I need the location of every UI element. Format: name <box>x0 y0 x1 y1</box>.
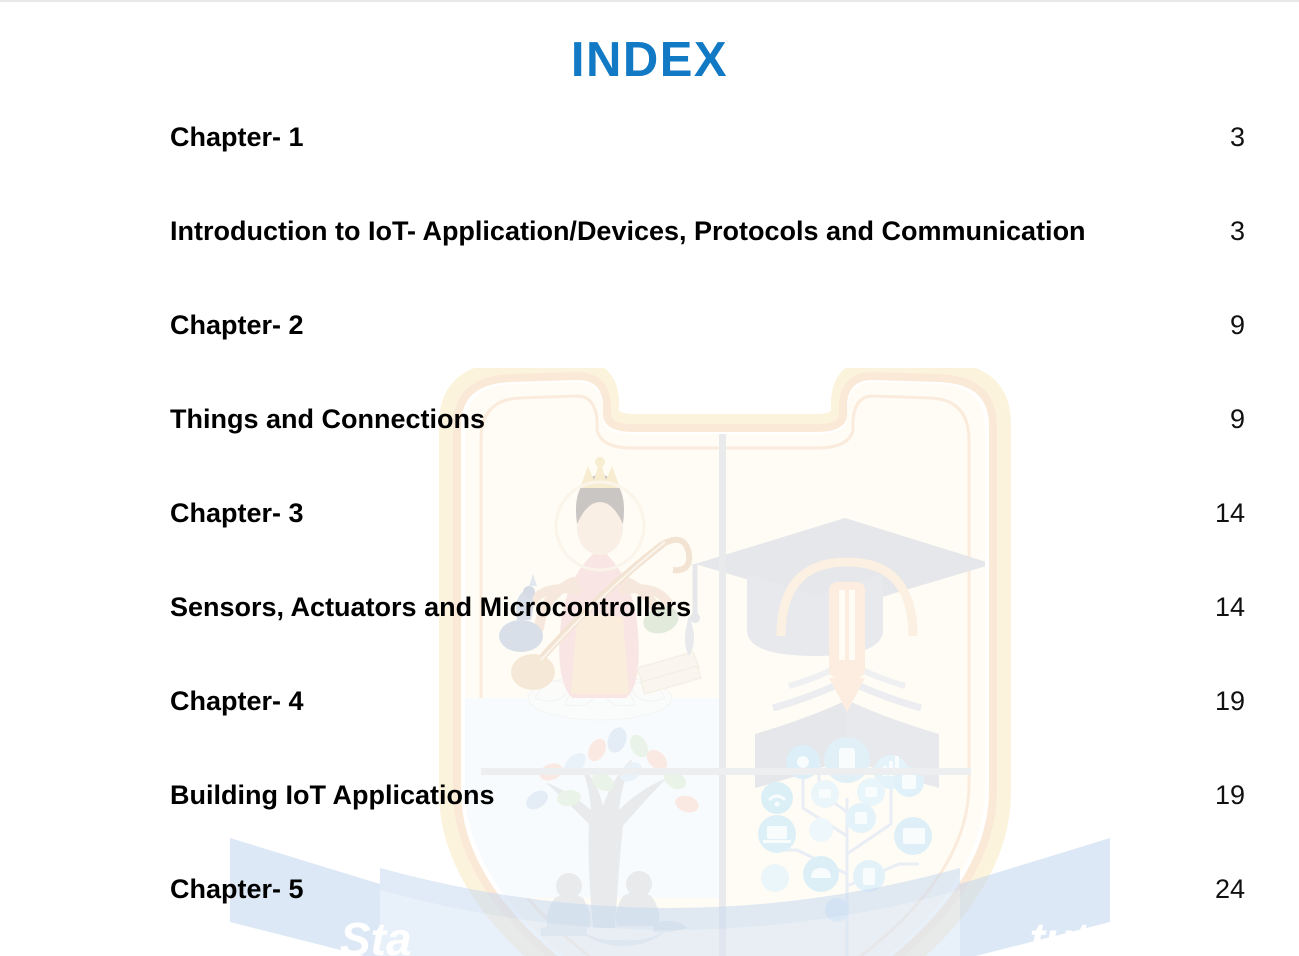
toc-entry[interactable]: Chapter- 2 9 <box>170 310 1245 404</box>
toc-entry-page: 24 <box>1211 874 1245 905</box>
toc-entry-page: 14 <box>1211 498 1245 529</box>
toc-entry[interactable]: Chapter- 4 19 <box>170 686 1245 780</box>
toc-entry[interactable]: Chapter- 3 14 <box>170 498 1245 592</box>
toc-dot-leader <box>304 318 1211 334</box>
toc-entry-page: 3 <box>1211 122 1245 153</box>
toc-entry-page: 19 <box>1211 780 1245 811</box>
toc-entry[interactable]: Introduction to IoT- Application/Devices… <box>170 216 1245 310</box>
toc-entry-label: Things and Connections <box>170 404 485 435</box>
toc-entry-page: 9 <box>1211 404 1245 435</box>
toc-entry[interactable]: Things and Connections 9 <box>170 404 1245 498</box>
toc-entry-label: Sensors, Actuators and Microcontrollers <box>170 592 691 623</box>
toc-entry[interactable]: Chapter- 5 24 <box>170 874 1245 956</box>
toc-entry-label: Chapter- 2 <box>170 310 304 341</box>
toc-dot-leader <box>304 506 1211 522</box>
table-of-contents: Chapter- 1 3 Introduction to IoT- Applic… <box>170 122 1245 956</box>
toc-entry-label: Chapter- 4 <box>170 686 304 717</box>
toc-dot-leader <box>304 130 1211 146</box>
toc-entry-page: 14 <box>1211 592 1245 623</box>
toc-entry-label: Building IoT Applications <box>170 780 494 811</box>
page-top-rule <box>0 0 1299 2</box>
page-title: INDEX <box>0 32 1299 88</box>
toc-dot-leader <box>485 412 1211 428</box>
toc-entry-page: 19 <box>1211 686 1245 717</box>
toc-entry-label: Chapter- 3 <box>170 498 304 529</box>
toc-dot-leader <box>306 694 1211 710</box>
toc-entry[interactable]: Building IoT Applications 19 <box>170 780 1245 874</box>
toc-entry[interactable]: Chapter- 1 3 <box>170 122 1245 216</box>
toc-entry-label: Chapter- 5 <box>170 874 304 905</box>
toc-entry-label: Introduction to IoT- Application/Devices… <box>170 216 1086 247</box>
toc-entry[interactable]: Sensors, Actuators and Microcontrollers … <box>170 592 1245 686</box>
toc-dot-leader <box>691 600 1211 616</box>
toc-dot-leader <box>1086 224 1211 240</box>
toc-entry-page: 3 <box>1211 216 1245 247</box>
toc-entry-label: Chapter- 1 <box>170 122 304 153</box>
toc-dot-leader <box>306 882 1211 898</box>
toc-dot-leader <box>494 788 1211 804</box>
toc-entry-page: 9 <box>1211 310 1245 341</box>
document-page: Sta tute INDEX Chapter- 1 3 Introduction… <box>0 0 1299 956</box>
